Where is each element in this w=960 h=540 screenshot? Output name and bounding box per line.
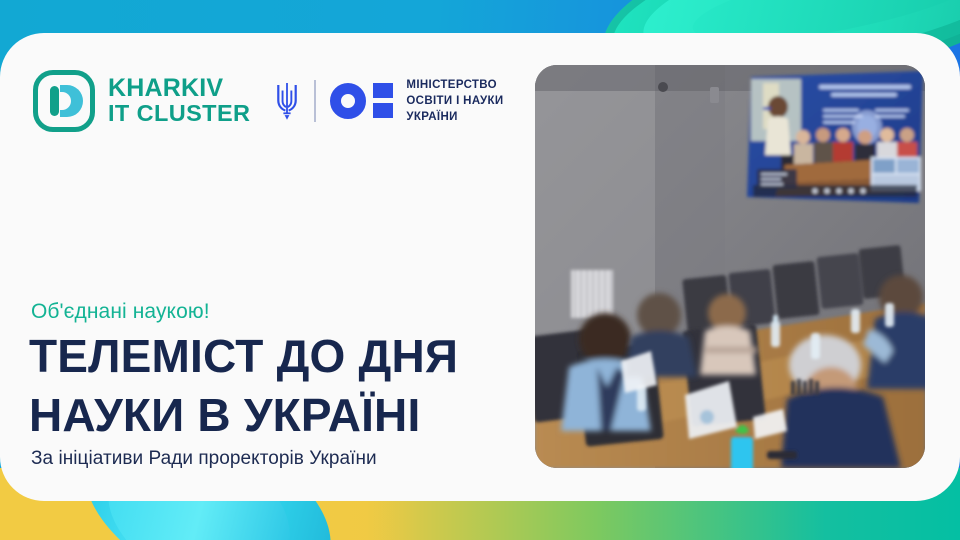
event-photo [535, 65, 925, 468]
ministry-line-1: МІНІСТЕРСТВО [406, 77, 503, 93]
ukraine-trident-icon [274, 81, 300, 121]
ministry-squares-shape [373, 83, 393, 118]
subtitle-text: За ініціативи Ради проректорів України [31, 448, 377, 470]
logo-row: KHARKIV IT CLUSTER [33, 70, 504, 132]
ministry-line-3: УКРАЇНИ [406, 109, 503, 125]
ministry-line-2: ОСВІТИ І НАУКИ [406, 93, 503, 109]
eyebrow-text: Об'єднані наукою! [31, 300, 210, 324]
kharkiv-it-cluster-logo-icon [33, 70, 95, 132]
ministry-of-education-logo-icon: МІНІСТЕРСТВО ОСВІТИ І НАУКИ УКРАЇНИ [330, 77, 503, 126]
page-title: ТЕЛЕМІСТ ДО ДНЯ НАУКИ В УКРАЇНІ [29, 327, 458, 445]
page-title-line1: ТЕЛЕМІСТ ДО ДНЯ [29, 327, 458, 386]
poster-canvas: KHARKIV IT CLUSTER [0, 0, 960, 540]
vertical-divider [314, 80, 316, 122]
cluster-name-line2: IT CLUSTER [108, 102, 250, 126]
ministry-ring-shape [330, 83, 366, 119]
partner-divider-group [274, 80, 330, 122]
ministry-square-bottom [373, 103, 393, 118]
logo-c-shape [60, 85, 83, 117]
logo-bar-shape [50, 86, 59, 116]
page-title-line2: НАУКИ В УКРАЇНІ [29, 386, 458, 445]
ministry-wordmark: МІНІСТЕРСТВО ОСВІТИ І НАУКИ УКРАЇНИ [406, 77, 503, 126]
cluster-wordmark: KHARKIV IT CLUSTER [108, 76, 250, 125]
ministry-square-top [373, 83, 393, 98]
event-photo-image [535, 65, 925, 468]
cluster-name-line1: KHARKIV [108, 76, 250, 102]
